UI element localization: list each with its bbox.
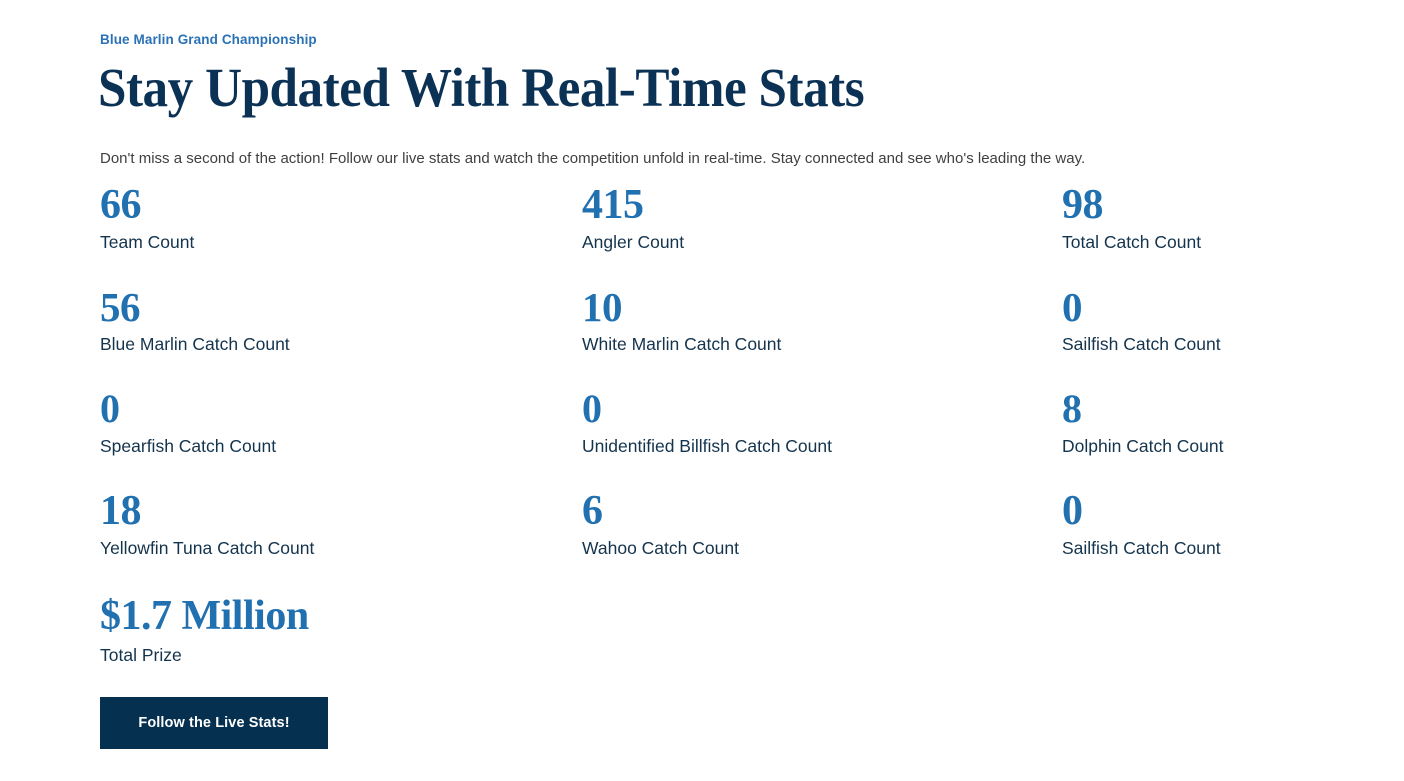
stat-label: Sailfish Catch Count: [1062, 536, 1310, 560]
follow-live-stats-button[interactable]: Follow the Live Stats!: [100, 697, 328, 749]
stat-label: Blue Marlin Catch Count: [100, 332, 582, 356]
stat-label: White Marlin Catch Count: [582, 332, 1062, 356]
stat-value: 6: [582, 488, 1062, 534]
stat-value: 415: [582, 182, 1062, 228]
stat-value: 66: [100, 182, 582, 228]
stat-item: 6Wahoo Catch Count: [582, 488, 1062, 590]
stat-value: 0: [1062, 488, 1310, 534]
stat-value: 0: [582, 386, 1062, 432]
event-eyebrow-label: Blue Marlin Grand Championship: [100, 32, 317, 48]
stat-item: 0Spearfish Catch Count: [100, 386, 582, 488]
stat-item: 98Total Catch Count: [1062, 182, 1310, 284]
stat-label: Team Count: [100, 230, 582, 254]
stat-value: 0: [1062, 284, 1310, 330]
stat-label: Dolphin Catch Count: [1062, 434, 1310, 458]
stat-label: Wahoo Catch Count: [582, 536, 1062, 560]
stats-grid: 66Team Count415Angler Count98Total Catch…: [100, 182, 1310, 590]
stat-value: 0: [100, 386, 582, 432]
stat-label: Sailfish Catch Count: [1062, 332, 1310, 356]
stat-item: 0Sailfish Catch Count: [1062, 284, 1310, 386]
page-title: Stay Updated With Real-Time Stats: [98, 57, 864, 119]
stat-value: 98: [1062, 182, 1310, 228]
stat-item: 0Unidentified Billfish Catch Count: [582, 386, 1062, 488]
stat-item: 10White Marlin Catch Count: [582, 284, 1062, 386]
stat-label: Angler Count: [582, 230, 1062, 254]
total-prize-value: $1.7 Million: [100, 592, 309, 640]
page-subtitle: Don't miss a second of the action! Follo…: [100, 148, 1085, 170]
stat-value: 8: [1062, 386, 1310, 432]
stat-label: Yellowfin Tuna Catch Count: [100, 536, 582, 560]
stat-label: Unidentified Billfish Catch Count: [582, 434, 1062, 458]
stat-item: 0Sailfish Catch Count: [1062, 488, 1310, 590]
stat-item: 8Dolphin Catch Count: [1062, 386, 1310, 488]
stat-value: 56: [100, 284, 582, 330]
stat-item: 18Yellowfin Tuna Catch Count: [100, 488, 582, 590]
follow-live-stats-button-label: Follow the Live Stats!: [138, 715, 289, 731]
total-prize-stat: $1.7 Million Total Prize: [100, 592, 309, 667]
stats-page: Blue Marlin Grand Championship Stay Upda…: [0, 0, 1404, 781]
stat-item: 66Team Count: [100, 182, 582, 284]
stat-label: Total Catch Count: [1062, 230, 1310, 254]
stat-item: 56Blue Marlin Catch Count: [100, 284, 582, 386]
stat-value: 10: [582, 284, 1062, 330]
stat-label: Spearfish Catch Count: [100, 434, 582, 458]
stat-value: 18: [100, 488, 582, 534]
stat-item: 415Angler Count: [582, 182, 1062, 284]
total-prize-label: Total Prize: [100, 643, 309, 667]
